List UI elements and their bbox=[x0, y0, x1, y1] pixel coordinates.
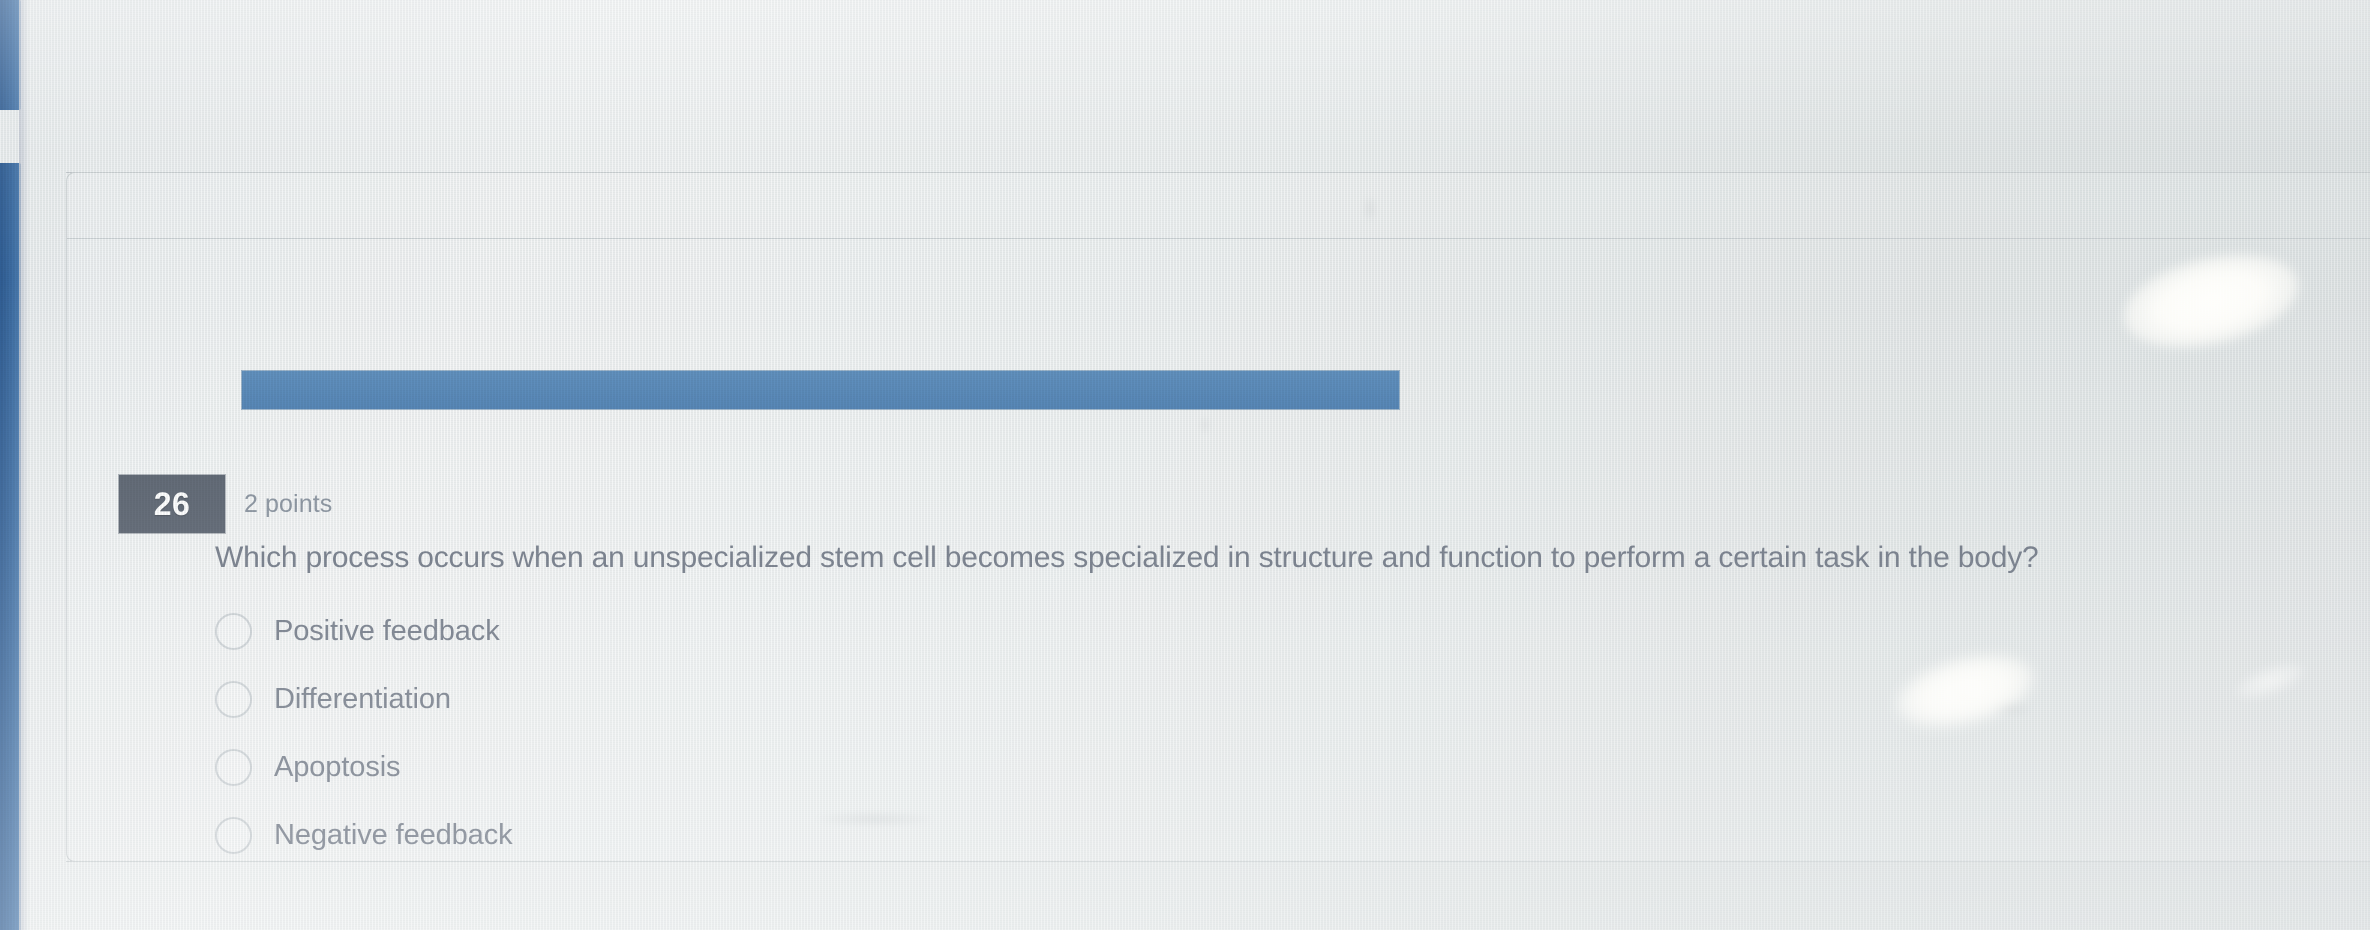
screen-photo: 26 2 points Which process occurs when an… bbox=[0, 0, 2370, 930]
side-rail-segment-top bbox=[0, 0, 21, 110]
radio-button-icon[interactable] bbox=[215, 681, 252, 718]
radio-button-icon[interactable] bbox=[215, 817, 252, 854]
answer-option-d[interactable]: Negative feedback bbox=[215, 801, 1115, 869]
answer-option-a[interactable]: Positive feedback bbox=[215, 597, 1115, 665]
side-rail-segment-bottom bbox=[0, 163, 21, 930]
answer-option-c[interactable]: Apoptosis bbox=[215, 733, 1115, 801]
browser-side-rail[interactable] bbox=[0, 0, 21, 930]
answer-option-label: Negative feedback bbox=[274, 819, 513, 852]
question-points-label: 2 points bbox=[244, 490, 332, 519]
question-prompt-text: Which process occurs when an unspecializ… bbox=[215, 539, 2315, 577]
question-card: 26 2 points Which process occurs when an… bbox=[66, 172, 2370, 862]
blue-title-bar bbox=[242, 371, 1399, 409]
answer-option-b[interactable]: Differentiation bbox=[215, 665, 1115, 733]
side-rail-gap bbox=[0, 110, 21, 163]
answer-option-label: Positive feedback bbox=[274, 615, 500, 648]
question-header: 26 2 points bbox=[119, 475, 332, 533]
radio-button-icon[interactable] bbox=[215, 613, 252, 650]
answer-option-label: Apoptosis bbox=[274, 751, 400, 784]
question-number-badge: 26 bbox=[119, 475, 225, 533]
radio-button-icon[interactable] bbox=[215, 749, 252, 786]
answer-option-label: Differentiation bbox=[274, 683, 451, 716]
answer-options-list: Positive feedback Differentiation Apopto… bbox=[215, 597, 1115, 869]
